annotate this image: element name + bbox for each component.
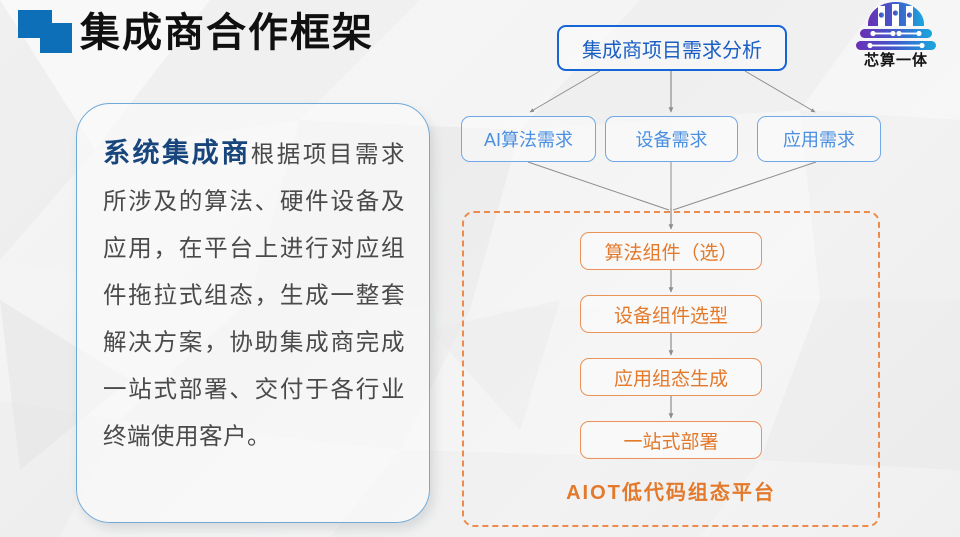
flow-step-device-component[interactable]: 设备组件选型	[580, 295, 762, 333]
flow-node-ai-algorithm-requirement[interactable]: AI算法需求	[461, 116, 596, 162]
flow-step-application-config[interactable]: 应用组态生成	[580, 358, 762, 396]
info-card-body: 根据项目需求所涉及的算法、硬件设备及应用，在平台上进行对应组件拖拉式组态，生成一…	[103, 141, 405, 449]
logo-square-bottom	[40, 23, 72, 53]
brand-name: 芯算一体	[844, 52, 948, 70]
flow-step-one-stop-deploy[interactable]: 一站式部署	[580, 421, 762, 459]
flow-node-application-requirement[interactable]: 应用需求	[757, 116, 881, 162]
page-title: 集成商合作框架	[80, 6, 374, 60]
flow-node-root[interactable]: 集成商项目需求分析	[557, 25, 787, 71]
brand-logo: 芯算一体	[844, 2, 948, 70]
two-squares-logo-icon	[18, 10, 76, 56]
slide-canvas: 集成商合作框架	[0, 0, 960, 537]
flow-step-algorithm-component[interactable]: 算法组件（选）	[580, 232, 762, 270]
info-card-lead: 系统集成商	[103, 138, 251, 168]
aiot-platform-caption: AIOT低代码组态平台	[462, 476, 880, 505]
info-card-text: 系统集成商根据项目需求所涉及的算法、硬件设备及应用，在平台上进行对应组件拖拉式组…	[77, 104, 429, 460]
flow-node-device-requirement[interactable]: 设备需求	[605, 116, 738, 162]
info-card: 系统集成商根据项目需求所涉及的算法、硬件设备及应用，在平台上进行对应组件拖拉式组…	[76, 103, 430, 523]
chip-circuit-icon	[850, 2, 942, 54]
